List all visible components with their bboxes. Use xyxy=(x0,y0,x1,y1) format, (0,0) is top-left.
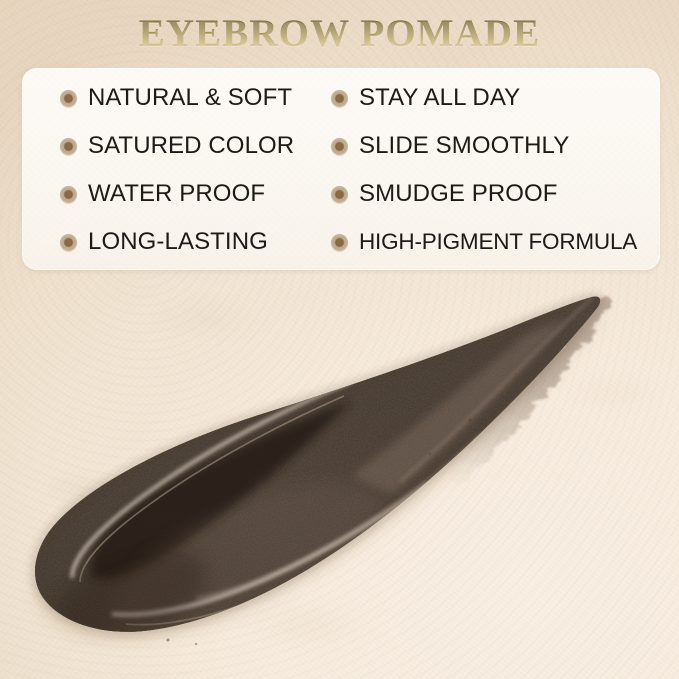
feature-item-natural-soft: NATURAL & SOFT xyxy=(22,74,322,122)
page-title-text: EYEBROW POMADE xyxy=(139,9,540,59)
feature-label: LONG-LASTING xyxy=(88,228,268,256)
feature-item-stay-all-day: STAY ALL DAY xyxy=(322,74,660,122)
page-title: EYEBROW POMADE xyxy=(0,9,679,59)
feature-list-card: NATURAL & SOFT STAY ALL DAY SATURED COLO… xyxy=(22,68,660,270)
feature-label: SLIDE SMOOTHLY xyxy=(359,132,569,160)
feature-label: SMUDGE PROOF xyxy=(359,180,558,208)
bullet-dot-icon xyxy=(331,186,348,203)
feature-item-slide-smoothly: SLIDE SMOOTHLY xyxy=(322,122,660,170)
pomade-swatch xyxy=(0,278,679,679)
feature-item-smudge-proof: SMUDGE PROOF xyxy=(322,170,660,218)
feature-item-water-proof: WATER PROOF xyxy=(22,170,322,218)
pomade-swatch-graphic xyxy=(0,278,679,679)
bullet-dot-icon xyxy=(60,186,77,203)
bullet-dot-icon xyxy=(331,234,348,251)
feature-label: WATER PROOF xyxy=(88,180,265,208)
bullet-dot-icon xyxy=(60,90,77,107)
feature-label: STAY ALL DAY xyxy=(359,84,520,112)
feature-label: SATURED COLOR xyxy=(88,132,294,160)
feature-item-long-lasting: LONG-LASTING xyxy=(22,218,322,266)
feature-item-satured-color: SATURED COLOR xyxy=(22,122,322,170)
bullet-dot-icon xyxy=(60,234,77,251)
bullet-dot-icon xyxy=(60,138,77,155)
bullet-dot-icon xyxy=(331,138,348,155)
feature-grid: NATURAL & SOFT STAY ALL DAY SATURED COLO… xyxy=(22,68,660,270)
product-image-canvas: EYEBROW POMADE NATURAL & SOFT STAY ALL D… xyxy=(0,0,679,679)
feature-label: HIGH-PIGMENT FORMULA xyxy=(359,229,637,255)
feature-item-high-pigment-formula: HIGH-PIGMENT FORMULA xyxy=(322,218,660,266)
feature-label: NATURAL & SOFT xyxy=(88,84,292,112)
bullet-dot-icon xyxy=(331,90,348,107)
